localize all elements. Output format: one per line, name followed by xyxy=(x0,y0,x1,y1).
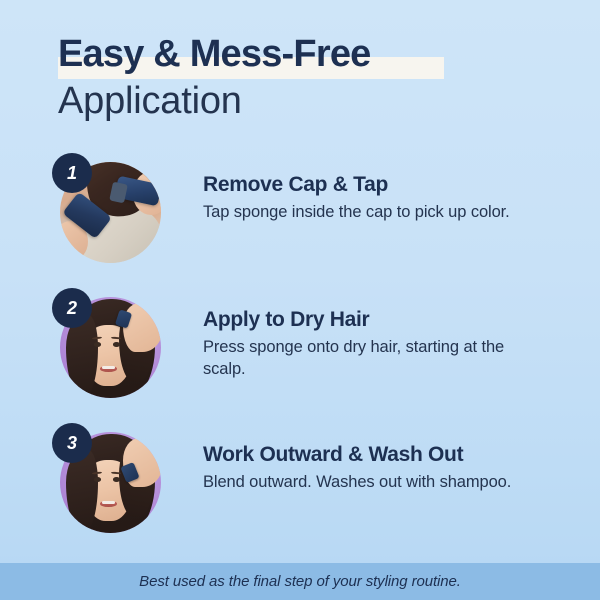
step-text-1: Remove Cap & Tap Tap sponge inside the c… xyxy=(203,172,548,223)
step-media-2: 2 xyxy=(60,297,161,398)
step-title: Remove Cap & Tap xyxy=(203,172,548,197)
step-title: Apply to Dry Hair xyxy=(203,307,548,332)
step-title: Work Outward & Wash Out xyxy=(203,442,548,467)
step-text-2: Apply to Dry Hair Press sponge onto dry … xyxy=(203,307,548,380)
title-line-two: Application xyxy=(58,78,538,124)
step-media-1: 1 xyxy=(60,162,161,263)
step-media-3: 3 xyxy=(60,432,161,533)
heading-line-one-wrapper: Easy & Mess-Free xyxy=(58,32,370,76)
step-text-3: Work Outward & Wash Out Blend outward. W… xyxy=(203,442,548,493)
list-item: 1 Remove Cap & Tap Tap sponge inside the… xyxy=(0,158,600,293)
step-number-badge: 1 xyxy=(52,153,92,193)
step-description: Blend outward. Washes out with shampoo. xyxy=(203,471,548,493)
list-item: 2 Apply to Dry Hair Press sponge onto dr… xyxy=(0,293,600,428)
step-number-badge: 2 xyxy=(52,288,92,328)
page-title: Easy & Mess-Free Application xyxy=(58,32,538,124)
step-description: Tap sponge inside the cap to pick up col… xyxy=(203,201,548,223)
step-number-badge: 3 xyxy=(52,423,92,463)
title-line-one: Easy & Mess-Free xyxy=(58,32,370,76)
list-item: 3 Work Outward & Wash Out Blend outward.… xyxy=(0,428,600,563)
step-description: Press sponge onto dry hair, starting at … xyxy=(203,336,548,380)
steps-list: 1 Remove Cap & Tap Tap sponge inside the… xyxy=(0,158,600,563)
application-steps-infographic: Easy & Mess-Free Application xyxy=(0,0,600,600)
footer-note: Best used as the final step of your styl… xyxy=(139,573,461,590)
footer-note-band: Best used as the final step of your styl… xyxy=(0,563,600,600)
